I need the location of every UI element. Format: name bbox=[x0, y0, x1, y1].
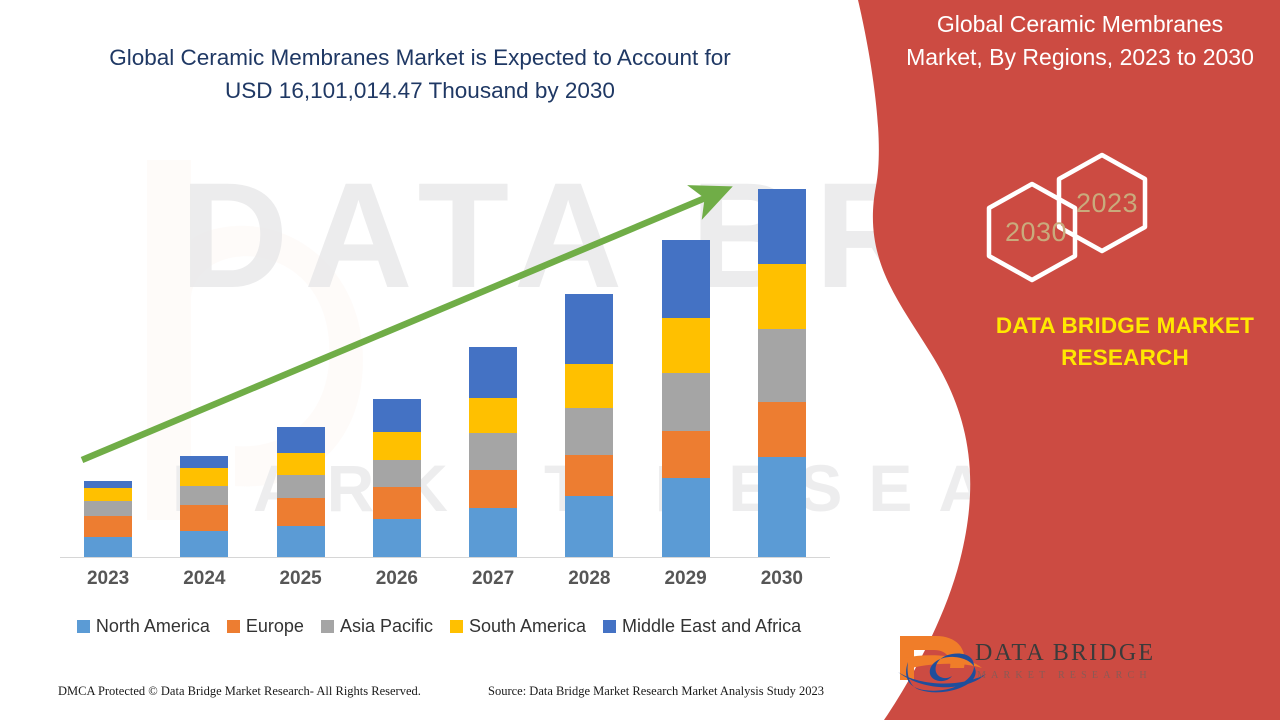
legend-label: North America bbox=[96, 616, 210, 637]
bar-2024[interactable] bbox=[180, 456, 228, 558]
bar-segment-2030-north-america[interactable] bbox=[758, 457, 806, 558]
chart-legend: North AmericaEuropeAsia PacificSouth Ame… bbox=[60, 616, 835, 637]
copyright-notice: DMCA Protected © Data Bridge Market Rese… bbox=[58, 684, 421, 699]
chart-title-line-2: USD 16,101,014.47 Thousand by 2030 bbox=[40, 75, 800, 108]
stacked-bar-plot bbox=[60, 160, 830, 558]
legend-item-south-america[interactable]: South America bbox=[450, 616, 586, 637]
bar-2026[interactable] bbox=[373, 399, 421, 558]
hexagon-2023-label: 2023 bbox=[1076, 188, 1138, 219]
bar-segment-2024-europe[interactable] bbox=[180, 505, 228, 531]
bar-segment-2025-europe[interactable] bbox=[277, 498, 325, 526]
bar-segment-2023-north-america[interactable] bbox=[84, 537, 132, 558]
bar-segment-2030-asia-pacific[interactable] bbox=[758, 329, 806, 402]
bar-segment-2030-south-america[interactable] bbox=[758, 264, 806, 330]
bar-2023[interactable] bbox=[84, 481, 132, 558]
bar-segment-2028-north-america[interactable] bbox=[565, 496, 613, 558]
legend-item-north-america[interactable]: North America bbox=[77, 616, 210, 637]
legend-swatch-icon bbox=[77, 620, 90, 633]
bar-segment-2023-south-america[interactable] bbox=[84, 488, 132, 501]
bar-segment-2025-south-america[interactable] bbox=[277, 453, 325, 476]
legend-label: South America bbox=[469, 616, 586, 637]
legend-label: Europe bbox=[246, 616, 304, 637]
bar-segment-2027-south-america[interactable] bbox=[469, 398, 517, 433]
year-hexagons: 2023 2030 bbox=[975, 150, 1185, 295]
bar-2025[interactable] bbox=[277, 427, 325, 558]
panel-heading-line-2: Market, By Regions, 2023 to 2030 bbox=[900, 41, 1260, 74]
bar-segment-2029-middle-east-and-africa[interactable] bbox=[662, 240, 710, 319]
bar-segment-2026-europe[interactable] bbox=[373, 487, 421, 519]
chart-title-line-1: Global Ceramic Membranes Market is Expec… bbox=[40, 42, 800, 75]
legend-swatch-icon bbox=[321, 620, 334, 633]
x-axis-label-2026: 2026 bbox=[352, 568, 442, 590]
x-axis-label-2028: 2028 bbox=[544, 568, 634, 590]
x-axis-line bbox=[60, 557, 830, 558]
brand-name-line-1: DATA BRIDGE MARKET bbox=[955, 310, 1280, 342]
bar-segment-2025-north-america[interactable] bbox=[277, 526, 325, 558]
bar-segment-2024-south-america[interactable] bbox=[180, 468, 228, 487]
bar-segment-2026-middle-east-and-africa[interactable] bbox=[373, 399, 421, 432]
infographic-canvas: DATA BRIDGE MARKET RESEARCH Global Ceram… bbox=[0, 0, 1280, 720]
bar-segment-2026-south-america[interactable] bbox=[373, 432, 421, 460]
logo-text-secondary: MARKET RESEARCH bbox=[977, 670, 1152, 681]
legend-swatch-icon bbox=[603, 620, 616, 633]
x-axis-label-2024: 2024 bbox=[159, 568, 249, 590]
panel-heading: Global Ceramic Membranes Market, By Regi… bbox=[900, 8, 1260, 73]
x-axis-label-2027: 2027 bbox=[448, 568, 538, 590]
brand-name: DATA BRIDGE MARKET RESEARCH bbox=[955, 310, 1280, 374]
bar-segment-2024-asia-pacific[interactable] bbox=[180, 486, 228, 505]
x-axis-label-2030: 2030 bbox=[737, 568, 827, 590]
bar-segment-2025-asia-pacific[interactable] bbox=[277, 475, 325, 498]
legend-item-asia-pacific[interactable]: Asia Pacific bbox=[321, 616, 433, 637]
bar-segment-2023-middle-east-and-africa[interactable] bbox=[84, 481, 132, 488]
bar-segment-2028-asia-pacific[interactable] bbox=[565, 408, 613, 455]
x-axis-label-2029: 2029 bbox=[641, 568, 731, 590]
bar-2028[interactable] bbox=[565, 294, 613, 558]
bar-segment-2027-north-america[interactable] bbox=[469, 508, 517, 558]
x-axis-label-2025: 2025 bbox=[256, 568, 346, 590]
bar-segment-2023-europe[interactable] bbox=[84, 516, 132, 537]
bar-segment-2024-north-america[interactable] bbox=[180, 531, 228, 558]
bar-segment-2028-europe[interactable] bbox=[565, 455, 613, 497]
bar-segment-2027-asia-pacific[interactable] bbox=[469, 433, 517, 471]
legend-label: Middle East and Africa bbox=[622, 616, 801, 637]
legend-swatch-icon bbox=[450, 620, 463, 633]
legend-swatch-icon bbox=[227, 620, 240, 633]
legend-label: Asia Pacific bbox=[340, 616, 433, 637]
source-notice: Source: Data Bridge Market Research Mark… bbox=[488, 684, 824, 699]
hexagon-2030-label: 2030 bbox=[1005, 217, 1067, 248]
legend-item-middle-east-and-africa[interactable]: Middle East and Africa bbox=[603, 616, 801, 637]
bar-segment-2026-north-america[interactable] bbox=[373, 519, 421, 558]
bar-segment-2029-asia-pacific[interactable] bbox=[662, 373, 710, 431]
bar-segment-2024-middle-east-and-africa[interactable] bbox=[180, 456, 228, 468]
bar-2029[interactable] bbox=[662, 240, 710, 558]
bar-segment-2027-middle-east-and-africa[interactable] bbox=[469, 347, 517, 398]
chart-title: Global Ceramic Membranes Market is Expec… bbox=[40, 42, 800, 107]
bar-segment-2029-europe[interactable] bbox=[662, 431, 710, 479]
bar-segment-2030-middle-east-and-africa[interactable] bbox=[758, 189, 806, 264]
bar-2027[interactable] bbox=[469, 347, 517, 558]
bar-segment-2026-asia-pacific[interactable] bbox=[373, 460, 421, 488]
bar-segment-2029-south-america[interactable] bbox=[662, 318, 710, 373]
logo-text-primary: DATA BRIDGE bbox=[975, 640, 1155, 667]
panel-heading-line-1: Global Ceramic Membranes bbox=[900, 8, 1260, 41]
bar-segment-2023-asia-pacific[interactable] bbox=[84, 501, 132, 516]
brand-name-line-2: RESEARCH bbox=[955, 342, 1280, 374]
bar-segment-2025-middle-east-and-africa[interactable] bbox=[277, 427, 325, 453]
bar-segment-2028-south-america[interactable] bbox=[565, 364, 613, 408]
bar-segment-2029-north-america[interactable] bbox=[662, 478, 710, 558]
bar-2030[interactable] bbox=[758, 189, 806, 558]
x-axis-labels: 20232024202520262027202820292030 bbox=[60, 568, 830, 596]
legend-item-europe[interactable]: Europe bbox=[227, 616, 304, 637]
bar-segment-2030-europe[interactable] bbox=[758, 402, 806, 457]
bar-segment-2028-middle-east-and-africa[interactable] bbox=[565, 294, 613, 364]
bar-segment-2027-europe[interactable] bbox=[469, 470, 517, 508]
x-axis-label-2023: 2023 bbox=[63, 568, 153, 590]
